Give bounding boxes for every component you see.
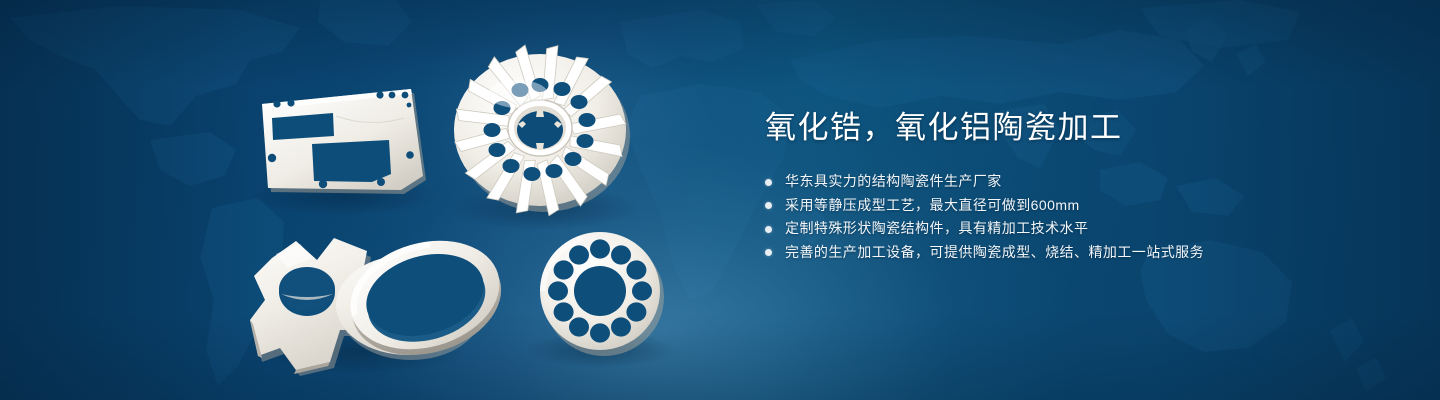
- list-item: 定制特殊形状陶瓷结构件，具有精加工技术水平: [765, 217, 1385, 241]
- ceramic-impeller-part: [453, 43, 630, 216]
- list-item: 华东具实力的结构陶瓷件生产厂家: [765, 170, 1385, 194]
- ceramic-plate-part: [262, 89, 426, 194]
- banner-text-block: 氧化锆，氧化铝陶瓷加工 华东具实力的结构陶瓷件生产厂家 采用等静压成型工艺，最大…: [765, 108, 1385, 264]
- bullet-dot-icon: [765, 249, 772, 256]
- bullet-dot-icon: [765, 202, 772, 209]
- list-item-label: 定制特殊形状陶瓷结构件，具有精加工技术水平: [785, 220, 1088, 236]
- list-item: 采用等静压成型工艺，最大直径可做到600mm: [765, 194, 1385, 218]
- feature-list: 华东具实力的结构陶瓷件生产厂家 采用等静压成型工艺，最大直径可做到600mm 定…: [765, 170, 1385, 264]
- list-item: 完善的生产加工设备，可提供陶瓷成型、烧结、精加工一站式服务: [765, 241, 1385, 265]
- list-item-label: 采用等静压成型工艺，最大直径可做到600mm: [785, 197, 1080, 213]
- bullet-dot-icon: [765, 179, 772, 186]
- page-title: 氧化锆，氧化铝陶瓷加工: [765, 108, 1385, 148]
- list-item-label: 完善的生产加工设备，可提供陶瓷成型、烧结、精加工一站式服务: [785, 244, 1204, 260]
- list-item-label: 华东具实力的结构陶瓷件生产厂家: [785, 173, 1002, 189]
- bullet-dot-icon: [765, 226, 772, 233]
- hero-banner: 氧化锆，氧化铝陶瓷加工 华东具实力的结构陶瓷件生产厂家 采用等静压成型工艺，最大…: [0, 0, 1440, 400]
- product-photo-cluster: [0, 0, 760, 400]
